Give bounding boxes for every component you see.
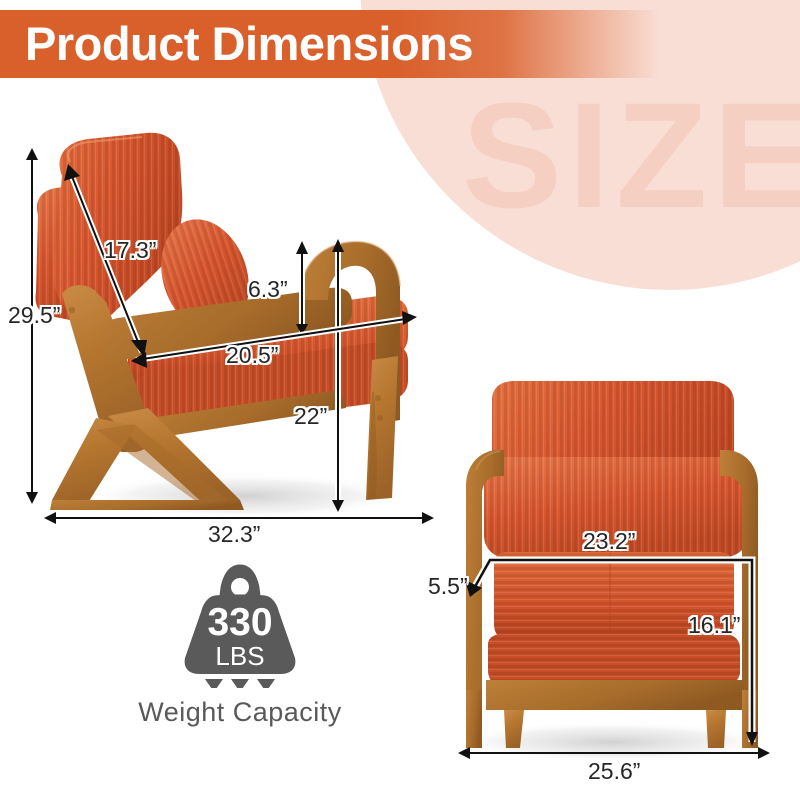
dim-armrest-clearance: 6.3” — [248, 276, 288, 303]
weight-capacity-block: 330 LBS Weight Capacity — [110, 556, 370, 728]
weight-capacity-caption: Weight Capacity — [110, 697, 370, 728]
product-dimensions-infographic: SIZE Product Dimensions — [0, 0, 800, 800]
weight-unit: LBS — [215, 641, 264, 671]
dim-backrest-length: 17.3” — [104, 237, 156, 264]
dim-cushion-thickness: 5.5” — [428, 573, 468, 600]
page-title: Product Dimensions — [25, 14, 473, 74]
weight-amount: 330 — [207, 601, 272, 644]
dim-seat-width: 23.2” — [583, 528, 635, 555]
arrow-down-icon-2 — [231, 679, 249, 688]
arrow-down-icon-3 — [257, 679, 275, 688]
dim-overall-height: 29.5” — [8, 302, 60, 329]
weight-icon: 330 LBS — [165, 556, 315, 688]
arrow-down-icon-1 — [205, 679, 223, 688]
dim-seat-depth: 20.5” — [226, 342, 278, 369]
dim-overall-depth: 32.3” — [208, 521, 260, 548]
size-watermark: SIZE — [462, 80, 800, 230]
dim-overall-width: 25.6” — [588, 758, 640, 785]
dim-armrest-height: 22” — [294, 403, 327, 430]
dim-seat-height: 16.1” — [688, 612, 740, 639]
